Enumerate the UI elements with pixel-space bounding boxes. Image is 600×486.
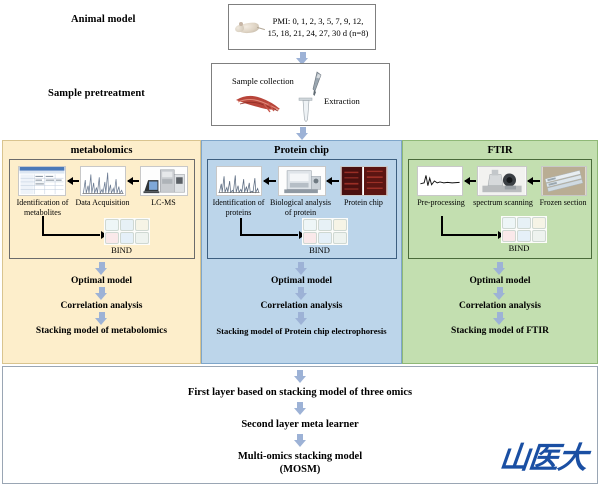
arrow-chip-to-analysis: [327, 180, 339, 182]
caption-pre-processing: Pre-processing: [411, 198, 471, 208]
column-title-protein-chip: Protein chip: [274, 145, 329, 156]
column-title-metabolomics: metabolomics: [71, 145, 133, 156]
arrow-to-optimal-model-protein: [295, 262, 308, 275]
ftir-microscope-icon: [477, 166, 527, 196]
flow-correlation-analysis-protein: Correlation analysis: [261, 301, 343, 311]
mosm-text-line1: Multi-omics stacking model: [238, 450, 362, 463]
lcms-instrument-icon: [140, 166, 188, 196]
bind-icon-grid-protein: [302, 218, 348, 245]
ftir-flow: Optimal model Correlation analysis Stack…: [451, 261, 549, 336]
bind-label-ftir: BIND: [489, 243, 549, 253]
pipette-icon: [308, 71, 324, 97]
arrow-to-correlation-metabolomics: [95, 287, 108, 300]
second-layer-text: Second layer meta learner: [241, 418, 358, 431]
bind-icon-grid-ftir: [501, 216, 547, 243]
animal-model-box: PMI: 0, 1, 2, 3, 5, 7, 9, 12, 15, 18, 21…: [228, 4, 376, 50]
flow-correlation-analysis-ftir: Correlation analysis: [459, 301, 541, 311]
arrow-scanning-to-preprocessing: [465, 180, 476, 182]
flow-optimal-model-ftir: Optimal model: [470, 276, 531, 286]
arrow-pretreatment-to-omics: [296, 127, 309, 140]
caption-biological-analysis-of-protein: Biological analysis of protein: [270, 198, 332, 218]
flow-stacking-model-metabolomics: Stacking model of metabolomics: [36, 326, 167, 336]
row-label-sample-pretreatment: Sample pretreatment: [48, 88, 145, 99]
top-section: Animal model Sample pretreatment PMI: 0,…: [0, 0, 600, 132]
extraction-label: Extraction: [324, 96, 360, 106]
arrow-to-stacking-ftir: [493, 312, 506, 325]
caption-data-acquisition: Data Acquisition: [74, 198, 132, 208]
arrow-frozen-to-scanning: [528, 180, 540, 182]
integration-section: First layer based on stacking model of t…: [2, 366, 598, 484]
caption-spectrum-scanning: spectrum scanning: [471, 198, 535, 208]
arrow-to-optimal-model-metabolomics: [95, 262, 108, 275]
first-layer-text: First layer based on stacking model of t…: [188, 386, 412, 399]
arrow-to-first-layer: [294, 370, 307, 383]
arrow-identification-to-bind: [42, 216, 100, 236]
arrow-to-stacking-protein: [295, 312, 308, 325]
caption-lc-ms: LC-MS: [140, 198, 188, 208]
analyzer-instrument-icon: [278, 166, 326, 196]
row-label-animal-model: Animal model: [71, 14, 136, 25]
caption-protein-chip: Protein chip: [342, 198, 386, 208]
data-table-screenshot-icon: [18, 166, 66, 196]
bind-icon-grid: [104, 218, 150, 245]
pmi-text: PMI: 0, 1, 2, 3, 5, 7, 9, 12, 15, 18, 21…: [265, 15, 375, 39]
ftir-spectrum-plot-icon: [417, 166, 463, 196]
arrow-to-correlation-protein: [295, 287, 308, 300]
arrow-to-mosm: [294, 434, 307, 447]
arrow-acquisition-to-identification: [68, 180, 79, 182]
sample-pretreatment-box: Sample collection Extraction: [211, 63, 390, 126]
column-metabolomics: metabolomics: [2, 140, 201, 364]
mosm-text-line2: (MOSM): [280, 463, 321, 476]
frozen-section-icon: [541, 166, 587, 196]
bind-label-protein-chip: BIND: [290, 245, 350, 255]
caption-identification-of-metabolites: Identification of metabolites: [14, 198, 72, 218]
ftir-workflow-box: Pre-processing spectrum scanning Frozen …: [408, 159, 592, 259]
muscle-tissue-icon: [234, 91, 282, 113]
chromatogram-plot-icon: [80, 166, 126, 196]
mouse-icon: [235, 16, 265, 38]
protein-chip-workflow-box: Identification of proteins Biological an…: [207, 159, 397, 259]
bind-label-metabolomics: BIND: [92, 245, 152, 255]
flow-correlation-analysis-metabolomics: Correlation analysis: [61, 301, 143, 311]
arrow-preprocessing-to-bind: [441, 216, 497, 236]
omics-band: metabolomics: [2, 140, 598, 364]
university-logo: 山医大: [498, 433, 590, 477]
arrow-lcms-to-acquisition: [128, 180, 139, 182]
sample-collection-label: Sample collection: [232, 76, 294, 86]
caption-identification-of-proteins: Identification of proteins: [210, 198, 268, 218]
electropherogram-plot-icon: [216, 166, 262, 196]
protein-gel-icon: [340, 166, 388, 196]
arrow-to-second-layer: [294, 402, 307, 415]
flow-optimal-model-metabolomics: Optimal model: [71, 276, 132, 286]
arrow-to-optimal-model-ftir: [493, 262, 506, 275]
column-ftir: FTIR: [402, 140, 598, 364]
flow-optimal-model-protein: Optimal model: [271, 276, 332, 286]
caption-frozen-section: Frozen section: [535, 198, 591, 208]
tube-icon: [298, 97, 314, 125]
column-protein-chip: Protein chip: [201, 140, 402, 364]
metabolomics-flow: Optimal model Correlation analysis Stack…: [36, 261, 167, 336]
arrow-analysis-to-identification-proteins: [264, 180, 276, 182]
arrow-to-correlation-ftir: [493, 287, 506, 300]
arrow-identification-to-bind-protein: [240, 218, 298, 236]
flow-stacking-model-ftir: Stacking model of FTIR: [451, 326, 549, 336]
protein-chip-flow: Optimal model Correlation analysis Stack…: [216, 261, 386, 336]
metabolomics-workflow-box: Identification of metabolites Data Acqui…: [9, 159, 195, 259]
column-title-ftir: FTIR: [487, 145, 512, 156]
arrow-to-stacking-metabolomics: [95, 312, 108, 325]
flow-stacking-model-protein: Stacking model of Protein chip electroph…: [216, 326, 386, 336]
